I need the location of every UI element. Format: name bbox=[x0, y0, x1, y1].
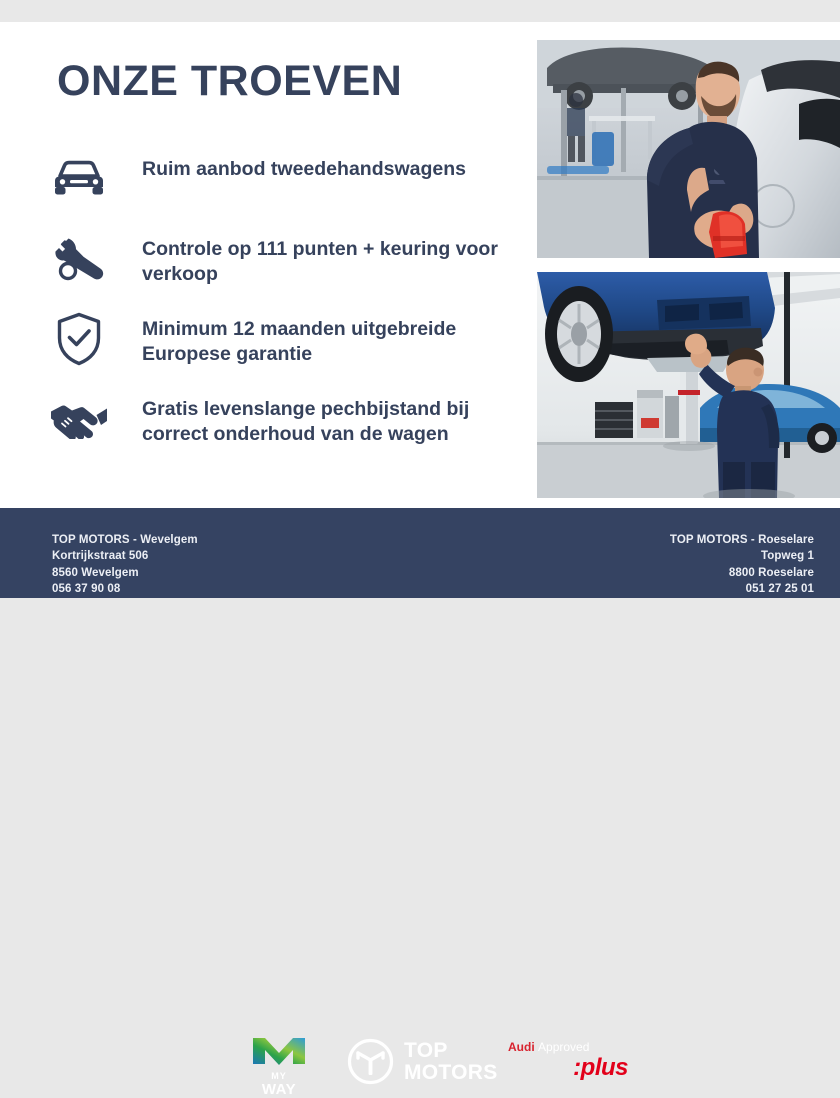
car-front-icon bbox=[50, 150, 108, 208]
address-line: Topweg 1 bbox=[670, 548, 814, 564]
top-motors-line2: MOTORS bbox=[404, 1062, 498, 1083]
list-item-label: Minimum 12 maanden uitgebreide Europese … bbox=[142, 310, 510, 367]
myway-label-my: MY bbox=[243, 1072, 315, 1081]
top-motors-line1: TOP bbox=[404, 1040, 498, 1061]
address-wevelgem: TOP MOTORS - Wevelgem Kortrijkstraat 506… bbox=[52, 532, 198, 597]
audi-plus-label: :plus bbox=[508, 1056, 628, 1080]
handshake-icon bbox=[50, 390, 108, 448]
mechanic-with-car-photo bbox=[537, 40, 840, 258]
benefits-column: ONZE TROEVEN bbox=[0, 22, 520, 508]
myway-logo[interactable]: MY WAY bbox=[243, 1036, 315, 1090]
address-line: 8800 Roeselare bbox=[670, 565, 814, 581]
top-motors-logo[interactable]: TOP MOTORS bbox=[347, 1038, 498, 1085]
address-roeselare: TOP MOTORS - Roeselare Topweg 1 8800 Roe… bbox=[670, 532, 814, 597]
list-item: Controle op 111 punten + keuring voor ve… bbox=[50, 230, 510, 304]
list-item-label: Controle op 111 punten + keuring voor ve… bbox=[142, 230, 510, 287]
promo-page: ONZE TROEVEN bbox=[0, 0, 840, 630]
list-item-label: Gratis levenslange pechbijstand bij corr… bbox=[142, 390, 510, 447]
top-motors-emblem-icon bbox=[347, 1038, 394, 1085]
footer-bar: TOP MOTORS - Wevelgem Kortrijkstraat 506… bbox=[0, 508, 840, 598]
audi-approved-line: Audi Approved bbox=[508, 1041, 628, 1053]
list-item: Minimum 12 maanden uitgebreide Europese … bbox=[50, 310, 510, 384]
myway-label-way: WAY bbox=[243, 1082, 315, 1097]
address-phone: 056 37 90 08 bbox=[52, 581, 198, 597]
car-on-lift-photo bbox=[537, 272, 840, 498]
list-item-label: Ruim aanbod tweedehandswagens bbox=[142, 150, 466, 182]
address-line: TOP MOTORS - Wevelgem bbox=[52, 532, 198, 548]
wrench-screwdriver-icon bbox=[50, 230, 108, 288]
content-card: ONZE TROEVEN bbox=[0, 22, 840, 508]
audi-approved-plus-logo[interactable]: Audi Approved :plus bbox=[508, 1041, 628, 1080]
address-line: Kortrijkstraat 506 bbox=[52, 548, 198, 564]
photo-gallery bbox=[537, 40, 840, 498]
page-title: ONZE TROEVEN bbox=[57, 60, 402, 103]
list-item: Gratis levenslange pechbijstand bij corr… bbox=[50, 390, 510, 464]
address-phone: 051 27 25 01 bbox=[670, 581, 814, 597]
myway-mark-icon bbox=[243, 1036, 315, 1066]
benefits-list: Ruim aanbod tweedehandswagens bbox=[50, 150, 510, 470]
audi-brand-label: Audi bbox=[508, 1040, 535, 1054]
shield-check-icon bbox=[50, 310, 108, 368]
audi-approved-label: Approved bbox=[538, 1040, 589, 1054]
address-line: 8560 Wevelgem bbox=[52, 565, 198, 581]
address-line: TOP MOTORS - Roeselare bbox=[670, 532, 814, 548]
list-item: Ruim aanbod tweedehandswagens bbox=[50, 150, 510, 224]
top-motors-wordmark: TOP MOTORS bbox=[404, 1040, 498, 1083]
